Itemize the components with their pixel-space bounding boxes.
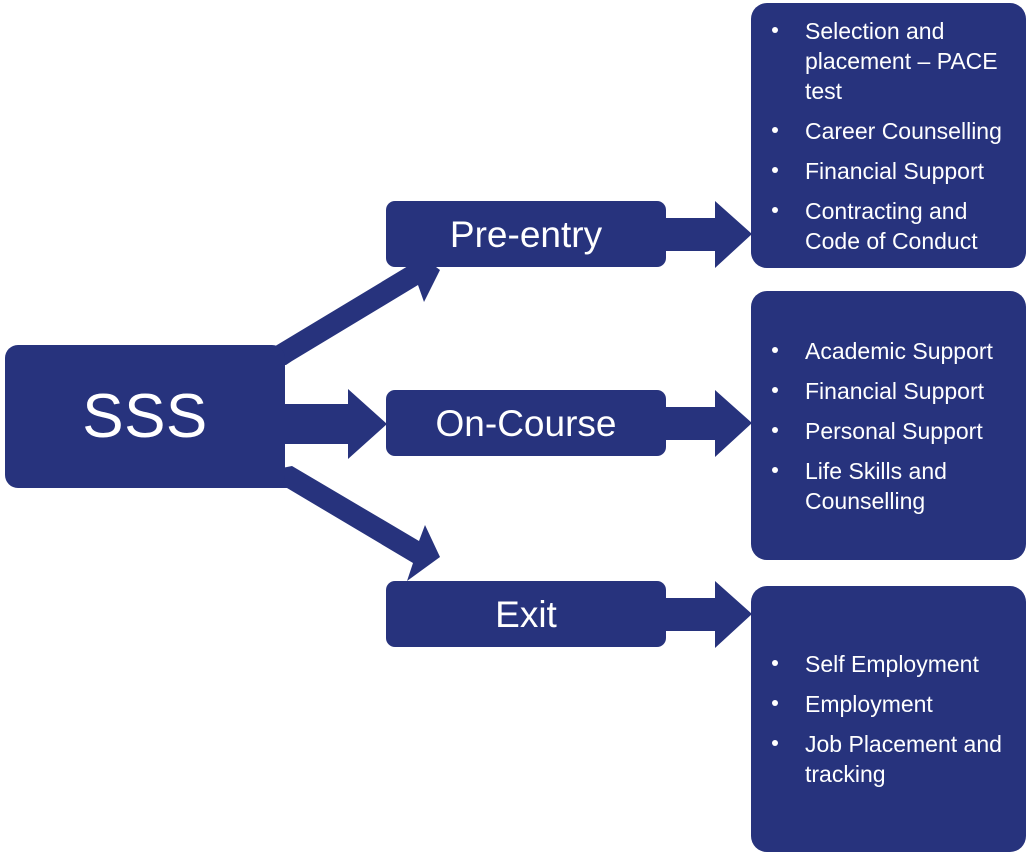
diagram-canvas: SSS Pre-entry On-Course Exit Selection a… [0,0,1030,855]
arrow-on-course-to-details [660,390,752,457]
list-item: Career Counselling [761,116,1018,146]
arrow-root-to-on-course [277,389,387,459]
stage-label-exit: Exit [495,596,557,633]
list-item-label: Life Skills and Counselling [805,456,1018,516]
bullet-dot-icon [772,467,778,473]
list-item-label: Financial Support [805,376,1018,406]
bullet-dot-icon [772,127,778,133]
list-item: Job Placement and tracking [761,729,1018,789]
detail-box-pre-entry[interactable]: Selection and placement – PACE test Care… [751,3,1026,268]
list-item-label: Financial Support [805,156,1018,186]
stage-label-pre-entry: Pre-entry [450,216,602,253]
list-item-label: Academic Support [805,336,1018,366]
bullet-dot-icon [772,207,778,213]
root-node-label: SSS [82,386,208,448]
list-item-label: Self Employment [805,649,1018,679]
list-item: Self Employment [761,649,1018,679]
bullet-dot-icon [772,27,778,33]
list-item-label: Personal Support [805,416,1018,446]
bullet-dot-icon [772,660,778,666]
list-item: Financial Support [761,156,1018,186]
stage-label-on-course: On-Course [436,405,617,442]
root-node-sss[interactable]: SSS [5,345,285,488]
list-item: Personal Support [761,416,1018,446]
list-item-label: Career Counselling [805,116,1018,146]
bullet-dot-icon [772,740,778,746]
list-item-label: Contracting and Code of Conduct [805,196,1018,256]
bullet-list-exit: Self Employment Employment Job Placement… [761,649,1018,789]
bullet-list-pre-entry: Selection and placement – PACE test Care… [761,16,1018,256]
list-item: Employment [761,689,1018,719]
bullet-dot-icon [772,167,778,173]
stage-pill-pre-entry[interactable]: Pre-entry [386,201,666,267]
bullet-list-on-course: Academic Support Financial Support Perso… [761,336,1018,516]
stage-pill-exit[interactable]: Exit [386,581,666,647]
bullet-dot-icon [772,387,778,393]
list-item: Financial Support [761,376,1018,406]
list-item-label: Employment [805,689,1018,719]
bullet-dot-icon [772,427,778,433]
list-item-label: Selection and placement – PACE test [805,16,1018,106]
list-item-label: Job Placement and tracking [805,729,1018,789]
arrow-pre-entry-to-details [660,201,752,268]
detail-box-on-course[interactable]: Academic Support Financial Support Perso… [751,291,1026,560]
stage-pill-on-course[interactable]: On-Course [386,390,666,456]
bullet-dot-icon [772,700,778,706]
list-item: Life Skills and Counselling [761,456,1018,516]
arrow-exit-to-details [660,581,752,648]
list-item: Selection and placement – PACE test [761,16,1018,106]
bullet-dot-icon [772,347,778,353]
arrow-root-to-exit [272,466,440,581]
detail-box-exit[interactable]: Self Employment Employment Job Placement… [751,586,1026,852]
list-item: Academic Support [761,336,1018,366]
list-item: Contracting and Code of Conduct [761,196,1018,256]
